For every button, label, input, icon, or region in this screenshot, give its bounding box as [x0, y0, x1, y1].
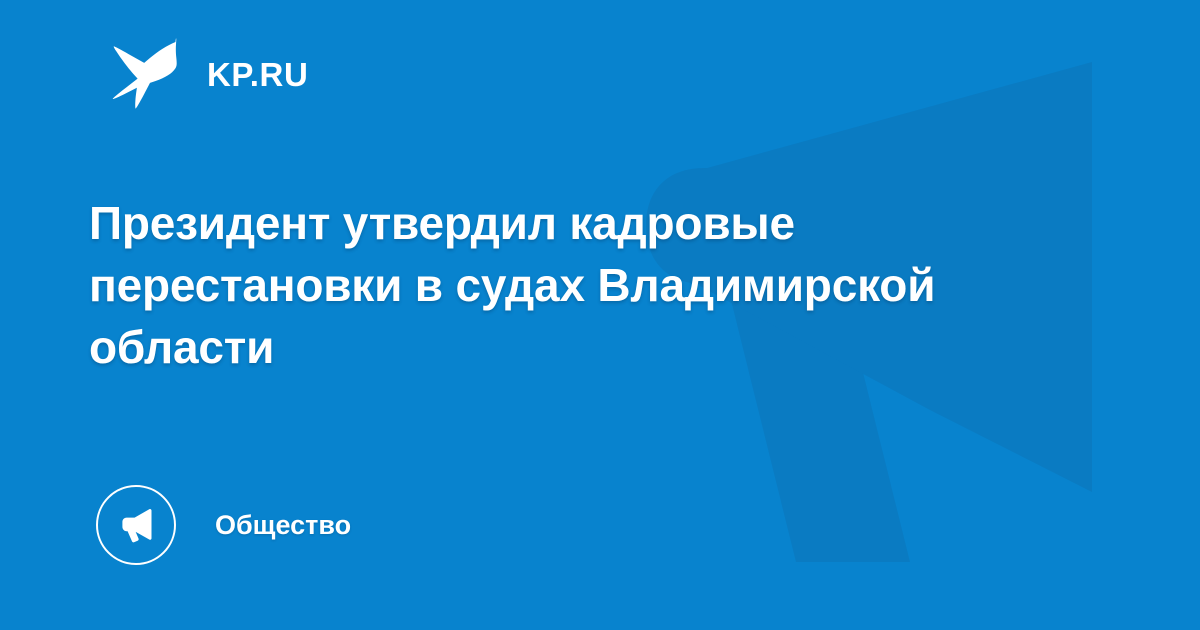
category-badge[interactable]	[96, 485, 176, 565]
swallow-bird-icon	[103, 38, 177, 110]
category-label: Общество	[215, 512, 351, 539]
headline: Президент утвердил кадровые перестановки…	[89, 192, 1009, 378]
share-card: KP.RU Президент утвердил кадровые перест…	[0, 0, 1200, 630]
category-block[interactable]: Общество	[96, 484, 351, 566]
brand-logo[interactable]: KP.RU	[103, 38, 308, 110]
brand-name: KP.RU	[207, 58, 308, 91]
megaphone-icon	[114, 503, 158, 547]
